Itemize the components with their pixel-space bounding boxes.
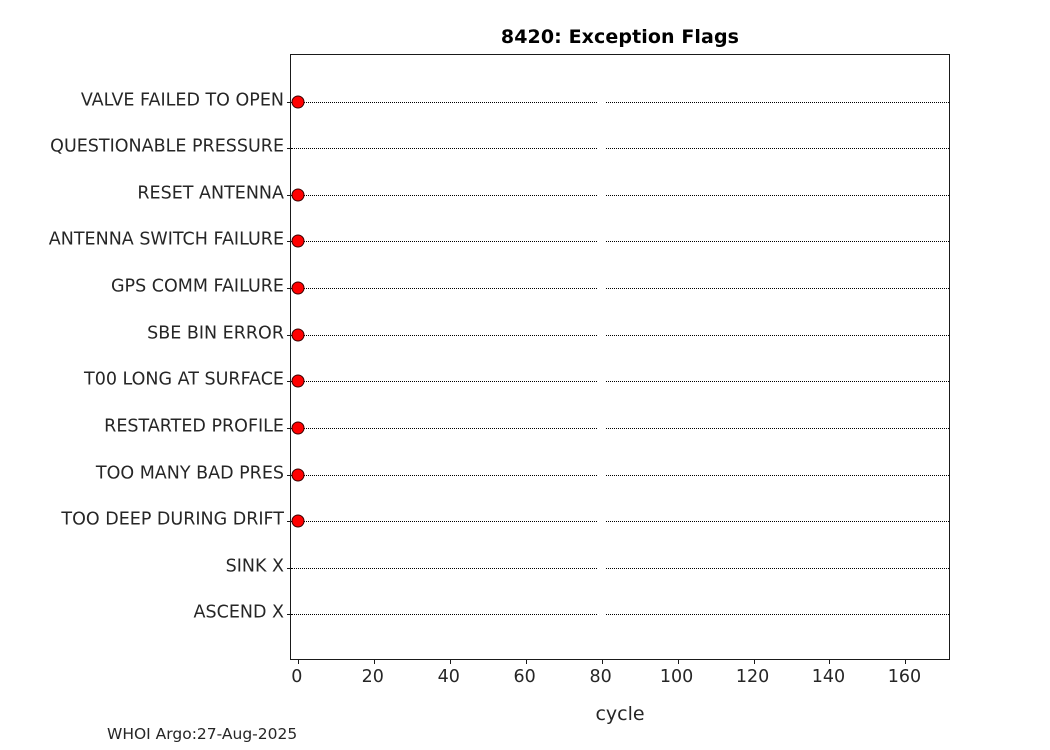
gridline	[291, 428, 949, 429]
y-tick-label: RESET ANTENNA	[137, 185, 284, 203]
x-tick-label: 80	[589, 667, 611, 687]
data-point-marker	[291, 515, 304, 528]
gridline-gap	[598, 334, 605, 338]
y-tick-label: ANTENNA SWITCH FAILURE	[49, 232, 284, 250]
x-tick-label: 0	[291, 667, 302, 687]
gridline	[291, 288, 949, 289]
x-tick-label: 60	[514, 667, 536, 687]
data-point-marker	[291, 282, 304, 295]
gridline	[291, 614, 949, 615]
gridline-gap	[598, 427, 605, 431]
gridline	[291, 241, 949, 242]
gridline	[291, 475, 949, 476]
footer-credit: WHOI Argo:27-Aug-2025	[107, 725, 297, 743]
y-tick-mark	[287, 148, 291, 149]
data-point-marker	[291, 95, 304, 108]
data-point-marker	[291, 375, 304, 388]
data-point-marker	[291, 235, 304, 248]
x-tick-mark	[526, 659, 527, 664]
y-tick-label: SINK X	[226, 558, 284, 576]
y-tick-label: RESTARTED PROFILE	[104, 418, 284, 436]
y-tick-label: TOO MANY BAD PRES	[96, 465, 284, 483]
y-tick-label: GPS COMM FAILURE	[111, 278, 284, 296]
x-tick-label: 20	[362, 667, 384, 687]
x-tick-mark	[829, 659, 830, 664]
x-tick-label: 160	[888, 667, 921, 687]
gridline-gap	[598, 567, 605, 571]
x-axis-label: cycle	[290, 703, 950, 725]
gridline	[291, 335, 949, 336]
gridline	[291, 148, 949, 149]
plot-area	[290, 54, 950, 660]
y-tick-mark	[287, 614, 291, 615]
y-tick-label: SBE BIN ERROR	[147, 325, 284, 343]
x-tick-mark	[374, 659, 375, 664]
gridline	[291, 381, 949, 382]
x-tick-label: 120	[736, 667, 769, 687]
gridline	[291, 102, 949, 103]
gridline	[291, 195, 949, 196]
gridline	[291, 521, 949, 522]
x-tick-mark	[450, 659, 451, 664]
gridline-gap	[598, 240, 605, 244]
y-tick-mark	[287, 568, 291, 569]
data-point-marker	[291, 421, 304, 434]
gridline-gap	[598, 380, 605, 384]
data-point-marker	[291, 468, 304, 481]
y-tick-label: TOO DEEP DURING DRIFT	[61, 511, 284, 529]
x-tick-label: 140	[812, 667, 845, 687]
gridline-gap	[598, 520, 605, 524]
gridline	[291, 568, 949, 569]
gridline-gap	[598, 474, 605, 478]
y-tick-label: VALVE FAILED TO OPEN	[81, 92, 284, 110]
gridline-gap	[598, 613, 605, 617]
x-tick-mark	[298, 659, 299, 664]
page-title: 8420: Exception Flags	[290, 26, 950, 48]
y-tick-label: QUESTIONABLE PRESSURE	[50, 138, 284, 156]
exception-flags-figure: 8420: Exception Flags VALVE FAILED TO OP…	[0, 0, 1050, 750]
x-tick-mark	[754, 659, 755, 664]
gridline-gap	[598, 194, 605, 198]
x-tick-label: 100	[660, 667, 693, 687]
y-tick-label: T00 LONG AT SURFACE	[84, 372, 284, 390]
y-tick-label: ASCEND X	[194, 605, 284, 623]
x-tick-label: 40	[438, 667, 460, 687]
data-point-marker	[291, 188, 304, 201]
x-tick-mark	[905, 659, 906, 664]
x-tick-mark	[678, 659, 679, 664]
data-point-marker	[291, 328, 304, 341]
gridline-gap	[598, 101, 605, 105]
gridline-gap	[598, 287, 605, 291]
gridline-gap	[598, 147, 605, 151]
x-tick-mark	[602, 659, 603, 664]
